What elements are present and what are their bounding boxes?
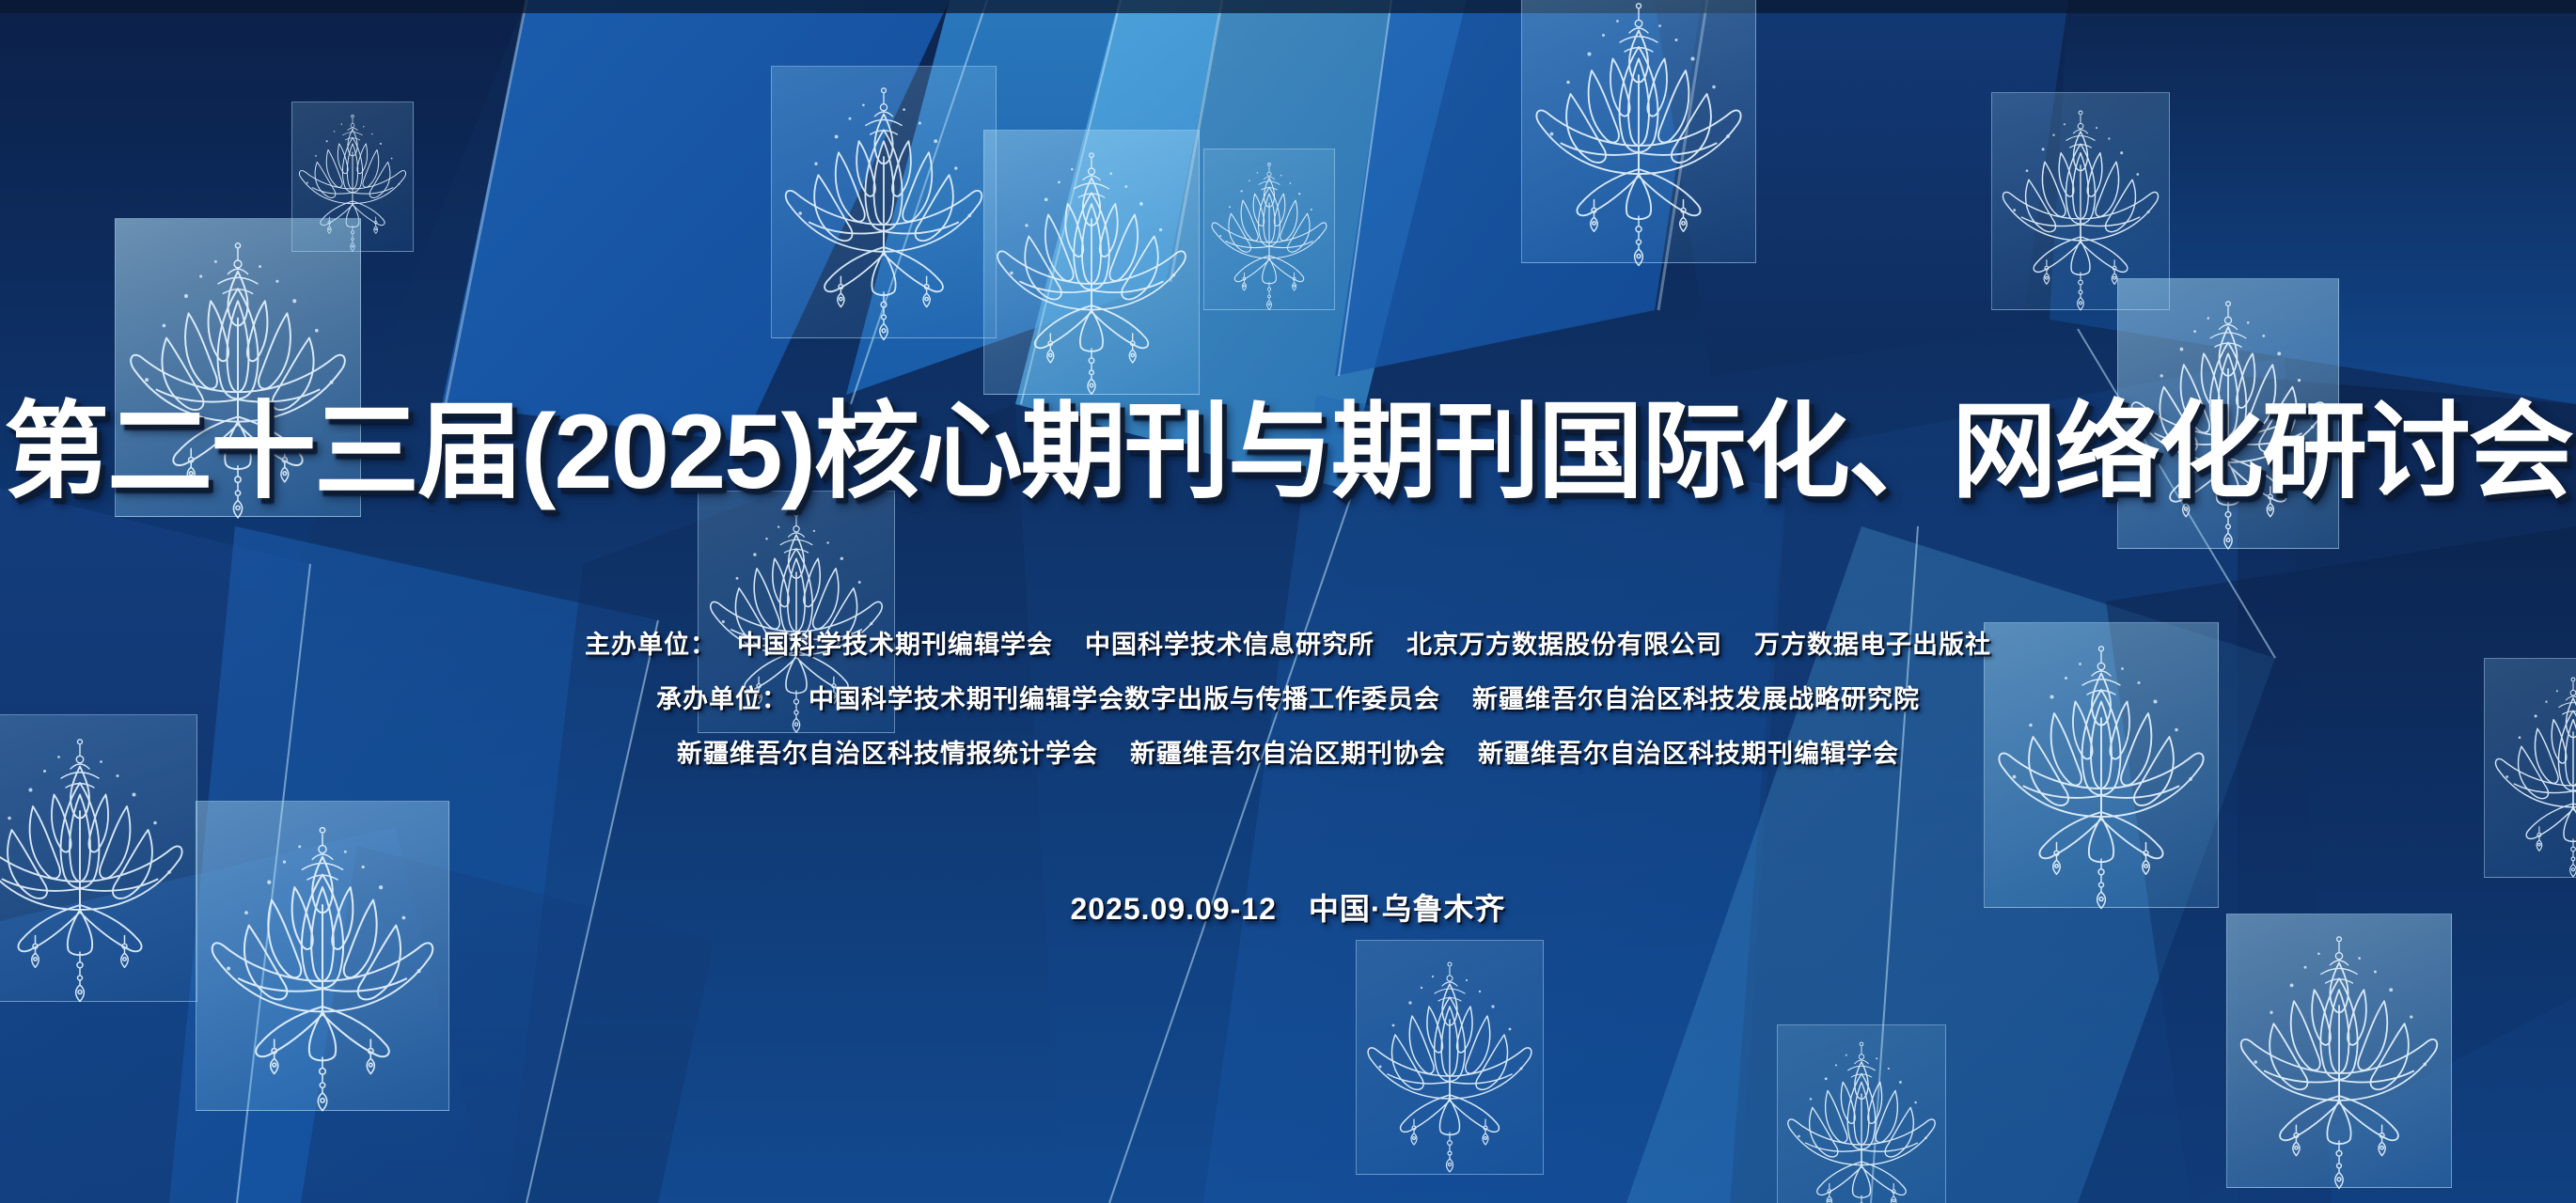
coorganizers-line-2: 新疆维吾尔自治区科技情报统计学会新疆维吾尔自治区期刊协会新疆维吾尔自治区科技期刊… [0,733,2576,770]
host-item: 中国科学技术期刊编辑学会 [737,631,1053,659]
page-title: 第二十三届(2025)核心期刊与期刊国际化、网络化研讨会 [0,367,2576,519]
host-organizers-line: 主办单位：中国科学技术期刊编辑学会中国科学技术信息研究所北京万方数据股份有限公司… [0,624,2576,661]
event-date: 2025.09.09-12 [1070,892,1276,926]
host-item: 中国科学技术信息研究所 [1085,631,1374,659]
coorganizers-line-1: 承办单位：中国科学技术期刊编辑学会数字出版与传播工作委员会新疆维吾尔自治区科技发… [0,679,2576,715]
event-location: 中国·乌鲁木齐 [1309,892,1506,926]
coorganizer-item: 新疆维吾尔自治区科技情报统计学会 [677,740,1098,768]
host-item: 北京万方数据股份有限公司 [1406,631,1722,659]
conference-banner: 第二十三届(2025)核心期刊与期刊国际化、网络化研讨会 主办单位：中国科学技术… [0,0,2576,1203]
coorganizer-item: 新疆维吾尔自治区期刊协会 [1130,740,1446,768]
coorganizer-item: 新疆维吾尔自治区科技发展战略研究院 [1472,685,1920,713]
event-date-location: 2025.09.09-12中国·乌鲁木齐 [0,885,2576,929]
coorganizer-item: 新疆维吾尔自治区科技期刊编辑学会 [1478,740,1899,768]
host-label: 主办单位： [585,631,716,659]
host-item: 万方数据电子出版社 [1754,631,1991,659]
coorganizer-label: 承办单位： [656,685,788,713]
coorganizer-item: 中国科学技术期刊编辑学会数字出版与传播工作委员会 [809,685,1440,713]
banner-text: 第二十三届(2025)核心期刊与期刊国际化、网络化研讨会 主办单位：中国科学技术… [0,0,2576,1203]
